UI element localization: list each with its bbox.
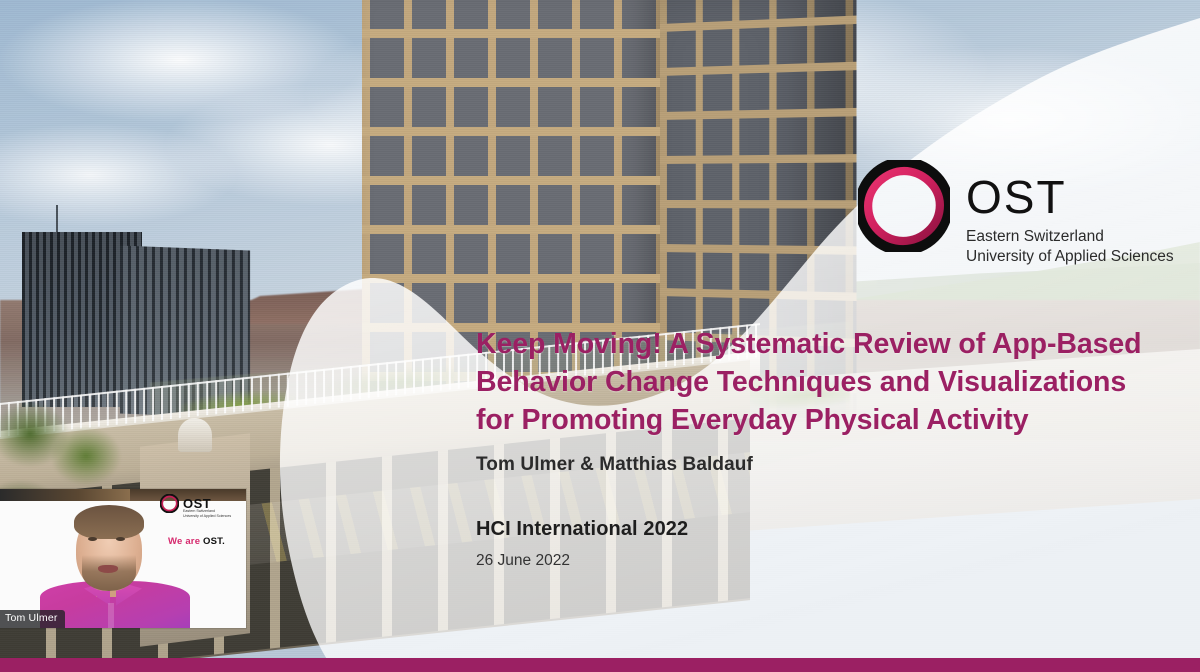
ost-subtitle-line2: University of Applied Sciences	[966, 248, 1174, 265]
presenter-beard	[82, 555, 136, 591]
ost-word: OST	[966, 176, 1174, 220]
presenter-eye-left	[88, 537, 97, 541]
ost-logo: OST Eastern Switzerland University of Ap…	[858, 158, 1188, 274]
title-line-1: Keep Moving! A Systematic Review of App-…	[476, 326, 1176, 364]
webcam-presenter	[34, 503, 194, 628]
event-date: 26 June 2022	[476, 552, 1176, 570]
title-line-2: Behavior Change Techniques and Visualiza…	[476, 364, 1176, 402]
bottom-brand-bar	[0, 658, 1200, 672]
presentation-slide: OST Eastern Switzerland University of Ap…	[0, 0, 1200, 672]
presenter-hair	[74, 505, 144, 539]
ost-subtitle-line1: Eastern Switzerland	[966, 228, 1104, 245]
ost-wordmark: OST Eastern Switzerland University of Ap…	[966, 158, 1174, 266]
participant-name-label: Tom Ulmer	[0, 610, 65, 628]
building-turret	[178, 418, 212, 452]
ost-subtitle: Eastern Switzerland University of Applie…	[966, 227, 1174, 267]
event-name: HCI International 2022	[476, 518, 1176, 541]
webcam-tagline-brand: OST.	[203, 536, 225, 547]
presenter-eye-right	[116, 537, 125, 541]
title-line-3: for Promoting Everyday Physical Activity	[476, 402, 1176, 440]
event-block: HCI International 2022 26 June 2022	[476, 518, 1176, 570]
webcam-tile[interactable]: OST Eastern Switzerland University of Ap…	[0, 489, 246, 628]
ost-ring-icon	[858, 160, 950, 252]
presenter-mouth	[98, 565, 118, 573]
antenna-mast	[56, 205, 58, 235]
presenter-shirt-placket	[108, 603, 114, 628]
title-block: Keep Moving! A Systematic Review of App-…	[476, 326, 1176, 476]
page-title: Keep Moving! A Systematic Review of App-…	[476, 326, 1176, 440]
background-shelf-dark	[0, 489, 130, 501]
authors-line: Tom Ulmer & Matthias Baldauf	[476, 454, 1176, 476]
